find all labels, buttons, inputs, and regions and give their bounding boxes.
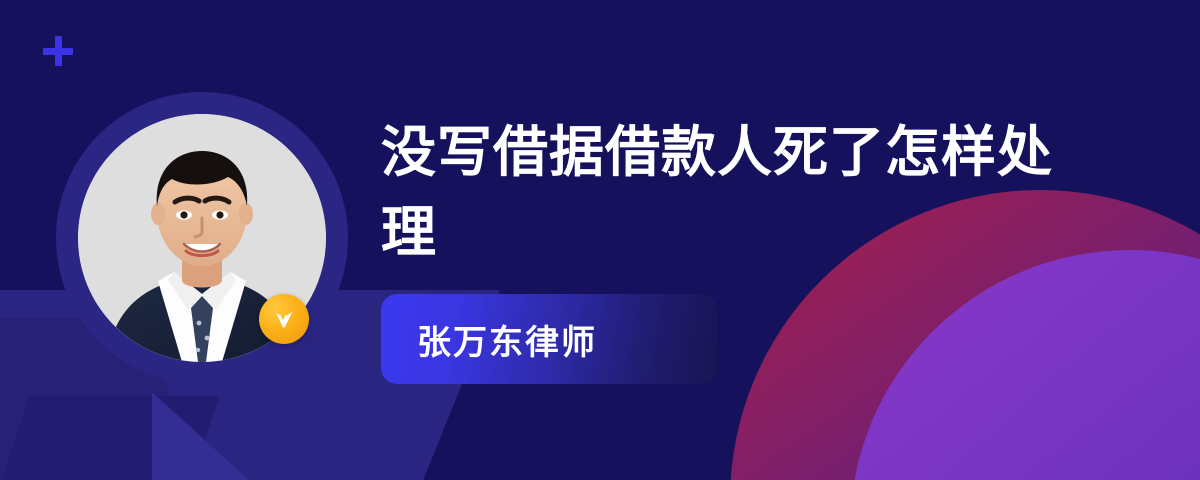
lawyer-promo-banner: 没写借据借款人死了怎样处理 张万东律师 (0, 0, 1200, 480)
avatar[interactable] (56, 92, 348, 384)
decorative-triangle-bottom-left (152, 392, 284, 480)
page-title: 没写借据借款人死了怎样处理 (381, 112, 1081, 272)
content-block: 没写借据借款人死了怎样处理 张万东律师 (381, 112, 1141, 384)
plus-icon (42, 35, 74, 67)
verified-v-icon (259, 294, 309, 344)
lawyer-name-button[interactable]: 张万东律师 (381, 294, 717, 384)
